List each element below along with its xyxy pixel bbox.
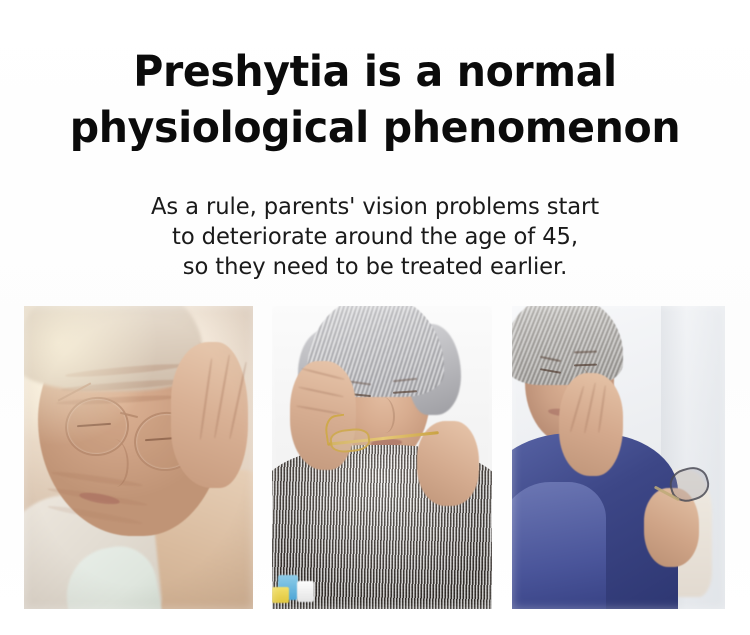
- photo-2-bottle-white: [297, 581, 314, 601]
- photo-gallery: [0, 306, 750, 609]
- photo-2-bottle-yellow: [272, 587, 289, 603]
- photo-3-sleeve: [512, 482, 606, 609]
- page-subtitle-line-3: so they need to be treated earlier.: [6, 252, 745, 282]
- photo-2-content: [272, 306, 492, 609]
- photo-2-bottles: [272, 564, 329, 606]
- infographic-page: Preshytia is a normal physiological phen…: [0, 0, 750, 635]
- photo-1-content: [24, 306, 253, 609]
- page-subtitle-line-2: to deteriorate around the age of 45,: [6, 222, 745, 252]
- photo-3-closed-eye-right: [574, 363, 597, 366]
- page-title-line-1: Preshytia is a normal: [17, 44, 733, 100]
- page-title-line-2: physiological phenomenon: [17, 100, 733, 156]
- photo-3-eyeglass-lens: [666, 463, 712, 506]
- photo-3-content: [512, 306, 725, 609]
- photo-2-eyeglass-lens: [328, 427, 370, 454]
- photo-2-eyeglasses: [325, 412, 444, 460]
- page-title: Preshytia is a normal physiological phen…: [17, 44, 733, 156]
- photo-woman-blue-sweater-pinching-nose: [512, 306, 725, 609]
- photo-1-vignette: [24, 306, 253, 609]
- page-subtitle-line-1: As a rule, parents' vision problems star…: [6, 192, 745, 222]
- photo-3-hair: [512, 306, 623, 385]
- photo-grey-haired-woman-holding-glasses: [272, 306, 492, 609]
- photo-3-eyeglasses: [648, 464, 712, 531]
- photo-elderly-woman-glasses-temple: [24, 306, 253, 609]
- photo-3-hand-pinching-nose: [559, 373, 623, 476]
- page-subtitle: As a rule, parents' vision problems star…: [6, 192, 745, 282]
